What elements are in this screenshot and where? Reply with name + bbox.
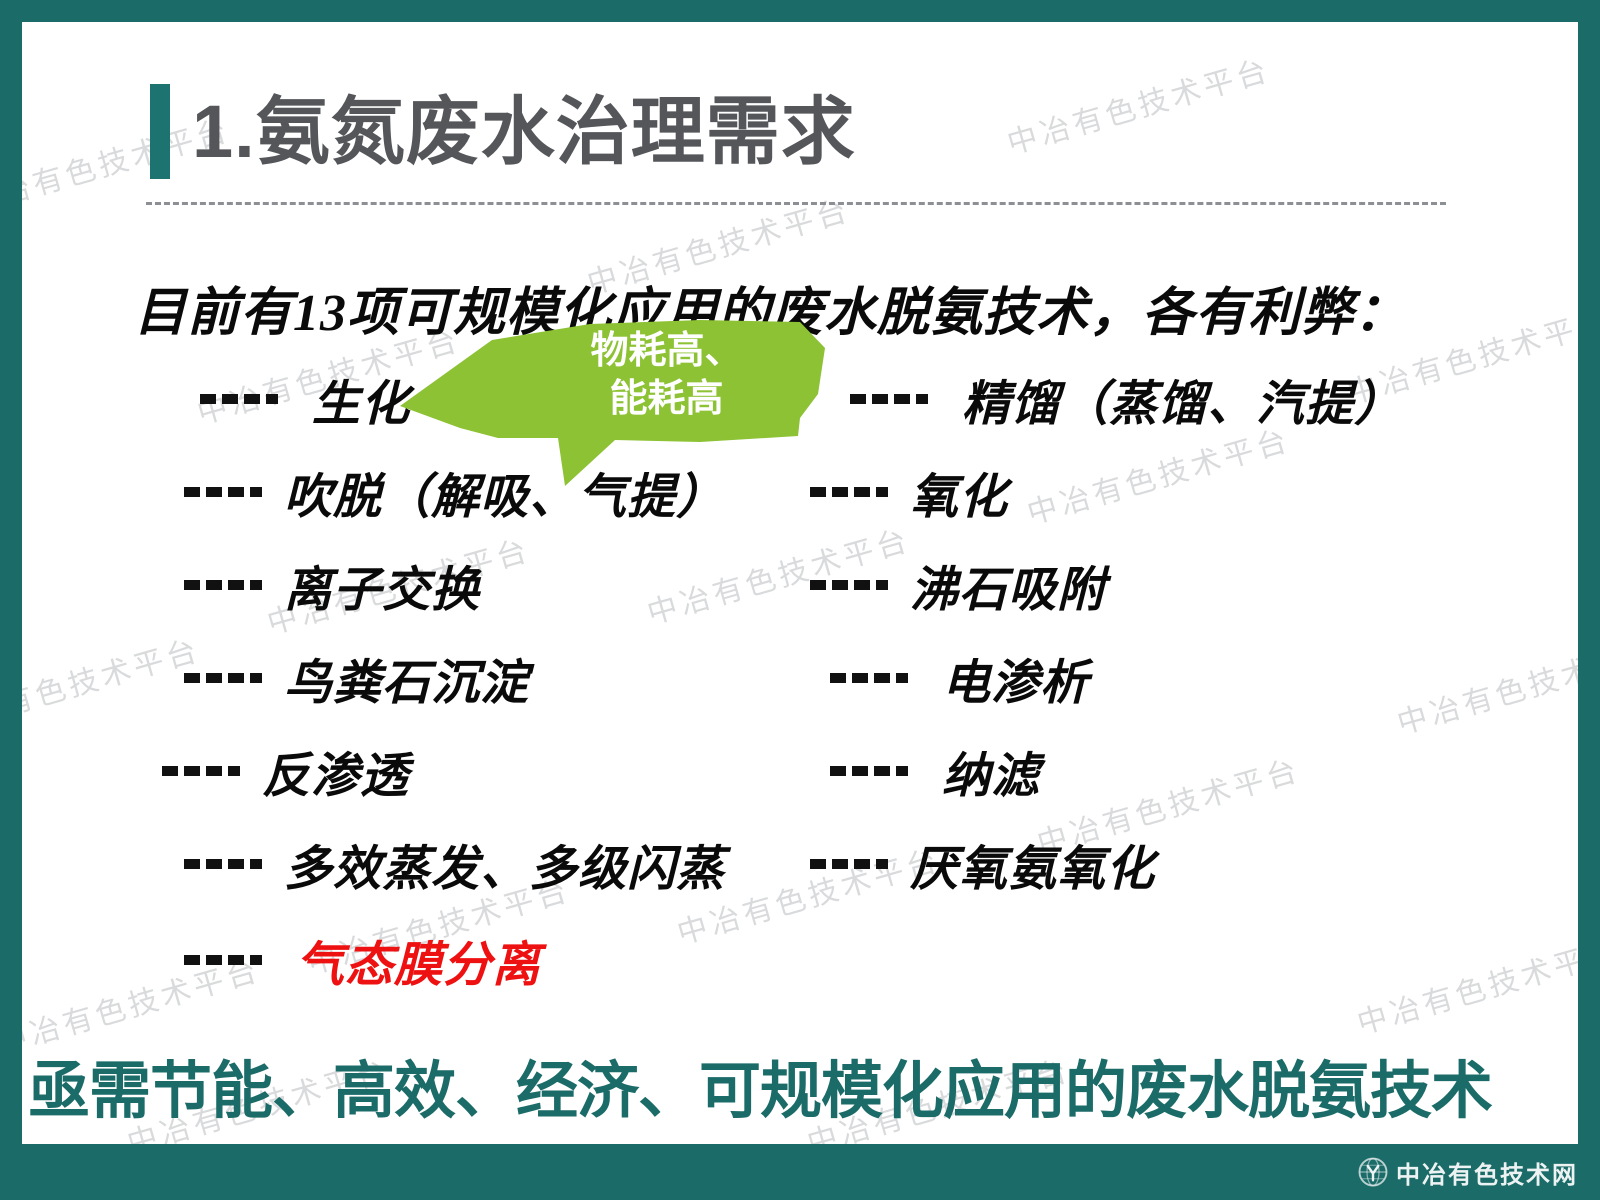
dash-bullet-icon — [184, 859, 262, 869]
list-item: 离子交换 — [162, 550, 802, 620]
page-title-row: 1.氨氮废水治理需求 — [150, 84, 856, 179]
list-item: 气态膜分离 — [162, 925, 802, 995]
list-item-label: 离子交换 — [284, 550, 480, 620]
list-item-label: 电渗析 — [942, 643, 1089, 713]
dash-bullet-icon — [184, 955, 262, 965]
dash-bullet-icon — [810, 859, 888, 869]
list-item: 鸟粪石沉淀 — [162, 643, 802, 713]
dash-bullet-icon — [830, 766, 908, 776]
conclusion-text: 亟需节能、高效、经济、可规模化应用的废水脱氨技术 — [28, 1040, 1578, 1130]
callout-badge: 物耗高、 能耗高 — [400, 318, 825, 490]
list-item-label: 沸石吸附 — [910, 550, 1106, 620]
dash-bullet-icon — [184, 487, 262, 497]
list-item-label: 氧化 — [910, 457, 1008, 527]
list-item-label: 厌氧氨氧化 — [910, 829, 1155, 899]
dash-bullet-icon — [810, 580, 888, 590]
list-item-label: 纳滤 — [942, 736, 1040, 806]
list-item: 厌氧氨氧化 — [802, 829, 1422, 899]
dash-bullet-icon — [184, 673, 262, 683]
dash-bullet-icon — [162, 766, 240, 776]
list-item-label: 反渗透 — [262, 736, 409, 806]
list-row: 鸟粪石沉淀 电渗析 — [162, 631, 1462, 724]
list-row: 离子交换 沸石吸附 — [162, 538, 1462, 631]
dash-bullet-icon — [830, 673, 908, 683]
list-item: 精馏（蒸馏、汽提） — [802, 364, 1422, 434]
list-item-label: 精馏（蒸馏、汽提） — [962, 364, 1403, 434]
list-item: 电渗析 — [802, 643, 1422, 713]
list-item: 多效蒸发、多级闪蒸 — [162, 829, 802, 899]
list-item: 氧化 — [802, 457, 1422, 527]
footer-brand: 中冶有色技术网 — [1358, 1155, 1578, 1190]
dash-bullet-icon — [850, 394, 928, 404]
slide-canvas: 中冶有色技术平台 中冶有色技术平台 中冶有色技术平台 中冶有色技术平台 中冶有色… — [0, 0, 1600, 1200]
slide-page: 中冶有色技术平台 中冶有色技术平台 中冶有色技术平台 中冶有色技术平台 中冶有色… — [22, 22, 1578, 1144]
list-item: 沸石吸附 — [802, 550, 1422, 620]
list-item: 纳滤 — [802, 736, 1422, 806]
list-row: 气态膜分离 — [162, 910, 1462, 1010]
footer-bar: 中冶有色技术网 — [0, 1144, 1600, 1200]
dash-bullet-icon — [200, 394, 278, 404]
list-item-label: 多效蒸发、多级闪蒸 — [284, 829, 725, 899]
list-item-label: 鸟粪石沉淀 — [284, 643, 529, 713]
list-item-label: 生化 — [312, 364, 410, 434]
globe-logo-icon — [1358, 1157, 1388, 1187]
list-row: 反渗透 纳滤 — [162, 724, 1462, 817]
title-accent-bar — [150, 84, 170, 179]
page-title: 1.氨氮废水治理需求 — [192, 95, 856, 169]
slide-content: 1.氨氮废水治理需求 目前有13项可规模化应用的废水脱氨技术，各有利弊： 生化 … — [22, 22, 1578, 1144]
dash-bullet-icon — [184, 580, 262, 590]
list-item-label-highlighted: 气态膜分离 — [296, 925, 541, 995]
list-row: 多效蒸发、多级闪蒸 厌氧氨氧化 — [162, 817, 1462, 910]
callout-arrow-shape — [400, 318, 825, 490]
footer-brand-text: 中冶有色技术网 — [1396, 1155, 1578, 1190]
title-divider — [146, 202, 1446, 205]
list-item: 反渗透 — [162, 736, 802, 806]
